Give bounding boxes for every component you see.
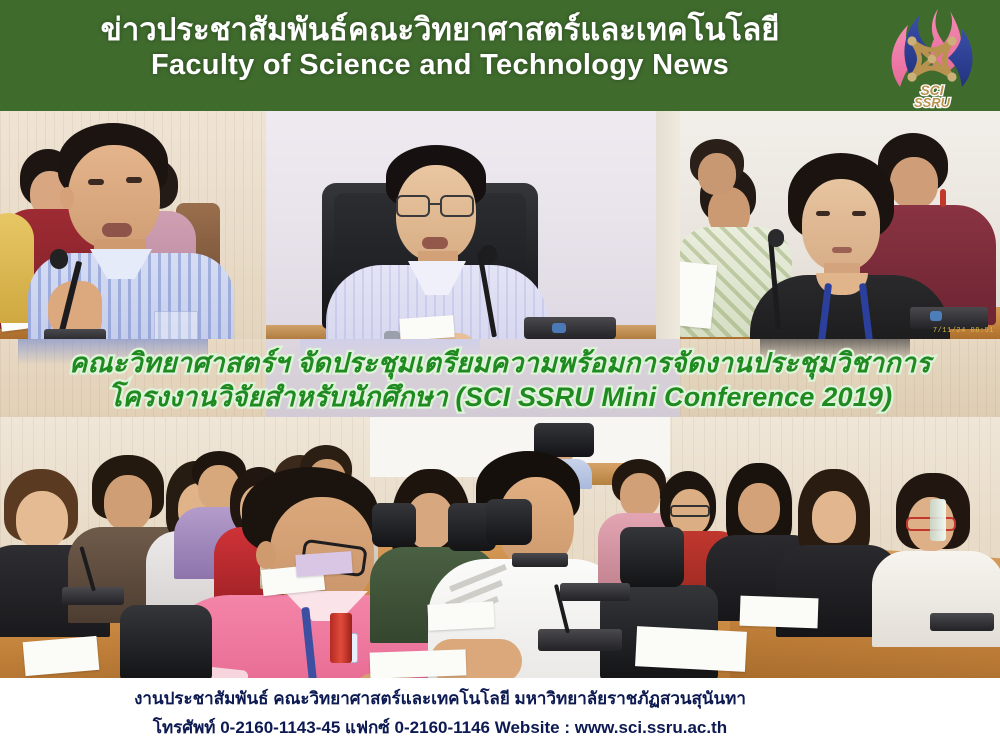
news-banner: ข่าวประชาสัมพันธ์คณะวิทยาศาสตร์และเทคโนโ… [0, 0, 1000, 750]
footer-bar: งานประชาสัมพันธ์ คณะวิทยาศาสตร์และเทคโนโ… [0, 678, 1000, 750]
photo-man-speaking-microphone [0, 111, 266, 339]
photo-chairman-at-head-table [266, 111, 680, 339]
title-band-backdrop [0, 339, 1000, 417]
sci-ssru-logo: SCI SSRU [880, 3, 984, 109]
footer-text-group: งานประชาสัมพันธ์ คณะวิทยาศาสตร์และเทคโนโ… [0, 686, 880, 742]
logo-svg: SCI SSRU [880, 3, 984, 109]
header-title-group: ข่าวประชาสัมพันธ์คณะวิทยาศาสตร์และเทคโนโ… [0, 14, 880, 80]
logo-text-ssru: SSRU [914, 95, 951, 109]
photo-woman-in-black-with-lanyard: 7/11/24 08:51 [680, 111, 1000, 339]
header-bar: ข่าวประชาสัมพันธ์คณะวิทยาศาสตร์และเทคโนโ… [0, 0, 1000, 111]
photo-row-top: 7/11/24 08:51 [0, 111, 1000, 339]
photo-conference-room-wide [0, 417, 1000, 678]
header-title-english: Faculty of Science and Technology News [0, 51, 880, 80]
footer-line-1: งานประชาสัมพันธ์ คณะวิทยาศาสตร์และเทคโนโ… [0, 686, 880, 712]
header-title-thai: ข่าวประชาสัมพันธ์คณะวิทยาศาสตร์และเทคโนโ… [0, 14, 880, 45]
footer-line-2: โทรศัพท์ 0-2160-1143-45 แฟกซ์ 0-2160-114… [0, 715, 880, 741]
